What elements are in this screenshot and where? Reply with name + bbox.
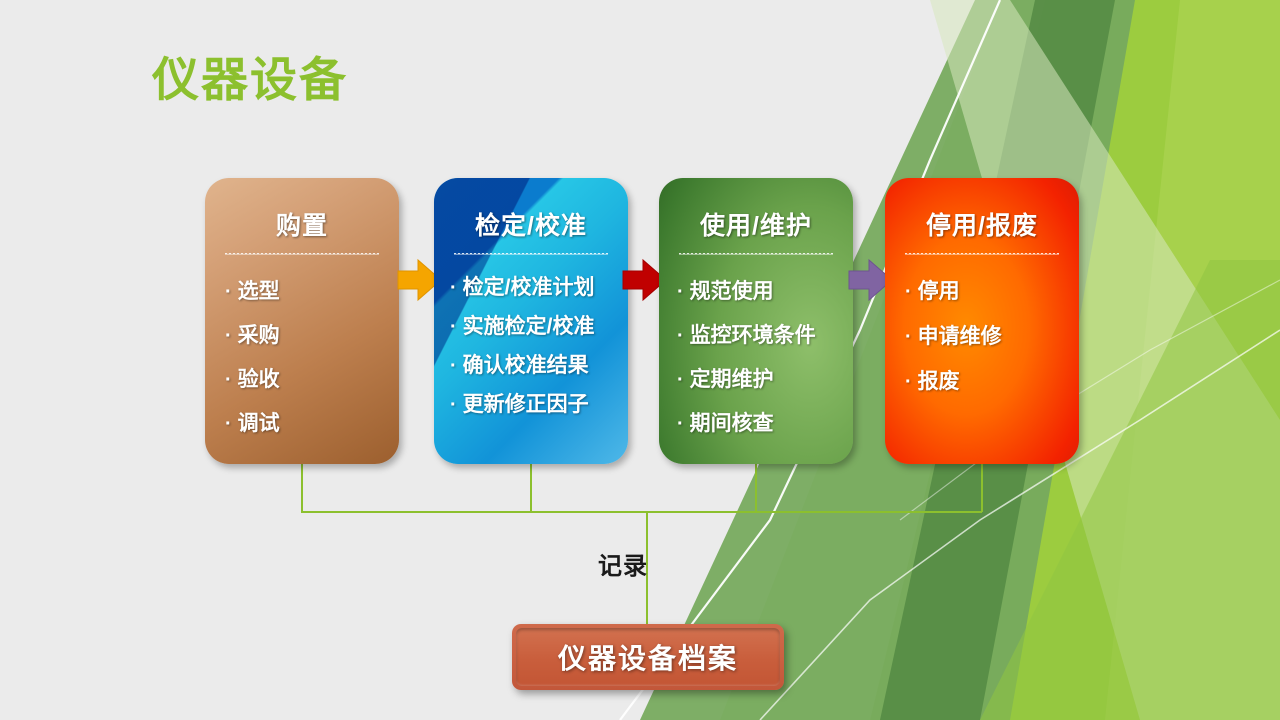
archive-button-label: 仪器设备档案 bbox=[558, 637, 738, 677]
list-item[interactable]: ·选型 bbox=[225, 280, 385, 303]
flow-box-purchase-body: 购置 ·选型 ·采购 ·验收 ·调试 bbox=[205, 178, 399, 464]
list-item-label: 选型 bbox=[238, 280, 280, 303]
flow-box-purchase[interactable]: 购置 ·选型 ·采购 ·验收 ·调试 bbox=[205, 178, 399, 464]
record-label: 记录 bbox=[598, 546, 648, 581]
flow-box-retire-scrap[interactable]: 停用/报废 ·停用 ·申请维修 ·报废 bbox=[885, 178, 1079, 464]
background-decoration bbox=[0, 0, 1280, 720]
bullet-icon: · bbox=[905, 282, 912, 302]
list-item-label: 期间核查 bbox=[690, 412, 774, 435]
bullet-icon: · bbox=[225, 326, 232, 346]
list-item-label: 检定/校准计划 bbox=[463, 276, 595, 299]
list-item[interactable]: ·更新修正因子 bbox=[450, 393, 614, 416]
flow-box-use-maintenance-list: ·规范使用 ·监控环境条件 ·定期维护 ·期间核查 bbox=[673, 254, 839, 435]
slide-canvas: 仪器设备 购置 ·选型 ·采购 ·验收 ·调试 检定/校准 bbox=[0, 0, 1280, 720]
flow-box-retire-scrap-body: 停用/报废 ·停用 ·申请维修 ·报废 bbox=[885, 178, 1079, 464]
flow-box-purchase-list: ·选型 ·采购 ·验收 ·调试 bbox=[219, 254, 385, 435]
flow-box-purchase-title: 购置 bbox=[219, 178, 385, 242]
list-item[interactable]: ·监控环境条件 bbox=[677, 324, 839, 347]
bullet-icon: · bbox=[450, 395, 457, 415]
list-item[interactable]: ·定期维护 bbox=[677, 368, 839, 391]
flow-box-retire-scrap-list: ·停用 ·申请维修 ·报废 bbox=[899, 254, 1065, 393]
list-item-label: 确认校准结果 bbox=[463, 354, 589, 377]
list-item-label: 规范使用 bbox=[690, 280, 774, 303]
list-item-label: 申请维修 bbox=[918, 325, 1002, 348]
bullet-icon: · bbox=[225, 282, 232, 302]
list-item[interactable]: ·检定/校准计划 bbox=[450, 276, 614, 299]
flow-box-calibration-title: 检定/校准 bbox=[448, 178, 614, 242]
bullet-icon: · bbox=[677, 326, 684, 346]
flow-box-use-maintenance[interactable]: 使用/维护 ·规范使用 ·监控环境条件 ·定期维护 ·期间核查 bbox=[659, 178, 853, 464]
list-item[interactable]: ·报废 bbox=[905, 370, 1065, 393]
list-item[interactable]: ·验收 bbox=[225, 368, 385, 391]
connector-box3-drop bbox=[755, 464, 757, 512]
connector-box4-drop bbox=[981, 464, 983, 512]
bullet-icon: · bbox=[677, 282, 684, 302]
bullet-icon: · bbox=[677, 414, 684, 434]
bullet-icon: · bbox=[450, 356, 457, 376]
flow-box-calibration[interactable]: 检定/校准 ·检定/校准计划 ·实施检定/校准 ·确认校准结果 ·更新修正因子 bbox=[434, 178, 628, 464]
flow-box-calibration-list: ·检定/校准计划 ·实施检定/校准 ·确认校准结果 ·更新修正因子 bbox=[448, 254, 614, 416]
list-item[interactable]: ·实施检定/校准 bbox=[450, 315, 614, 338]
connector-horizontal-bus bbox=[301, 511, 982, 513]
list-item[interactable]: ·采购 bbox=[225, 324, 385, 347]
connector-box1-drop bbox=[301, 464, 303, 512]
list-item[interactable]: ·期间核查 bbox=[677, 412, 839, 435]
archive-button-bevel: 仪器设备档案 bbox=[516, 628, 780, 686]
list-item[interactable]: ·申请维修 bbox=[905, 325, 1065, 348]
page-title: 仪器设备 bbox=[152, 54, 348, 106]
flow-box-calibration-body: 检定/校准 ·检定/校准计划 ·实施检定/校准 ·确认校准结果 ·更新修正因子 bbox=[434, 178, 628, 464]
bullet-icon: · bbox=[450, 278, 457, 298]
list-item[interactable]: ·规范使用 bbox=[677, 280, 839, 303]
connector-box2-drop bbox=[530, 464, 532, 512]
list-item-label: 验收 bbox=[238, 368, 280, 391]
list-item[interactable]: ·确认校准结果 bbox=[450, 354, 614, 377]
list-item-label: 调试 bbox=[238, 412, 280, 435]
bullet-icon: · bbox=[225, 414, 232, 434]
flow-box-use-maintenance-title: 使用/维护 bbox=[673, 178, 839, 242]
list-item-label: 更新修正因子 bbox=[463, 393, 589, 416]
archive-button[interactable]: 仪器设备档案 bbox=[512, 624, 784, 690]
list-item-label: 实施检定/校准 bbox=[463, 315, 595, 338]
list-item-label: 停用 bbox=[918, 280, 960, 303]
list-item[interactable]: ·调试 bbox=[225, 412, 385, 435]
list-item-label: 报废 bbox=[918, 370, 960, 393]
bullet-icon: · bbox=[450, 317, 457, 337]
bullet-icon: · bbox=[905, 327, 912, 347]
list-item-label: 采购 bbox=[238, 324, 280, 347]
list-item[interactable]: ·停用 bbox=[905, 280, 1065, 303]
list-item-label: 监控环境条件 bbox=[690, 324, 816, 347]
flow-box-retire-scrap-title: 停用/报废 bbox=[899, 178, 1065, 242]
flow-box-use-maintenance-body: 使用/维护 ·规范使用 ·监控环境条件 ·定期维护 ·期间核查 bbox=[659, 178, 853, 464]
list-item-label: 定期维护 bbox=[690, 368, 774, 391]
bullet-icon: · bbox=[905, 372, 912, 392]
bullet-icon: · bbox=[225, 370, 232, 390]
bullet-icon: · bbox=[677, 370, 684, 390]
